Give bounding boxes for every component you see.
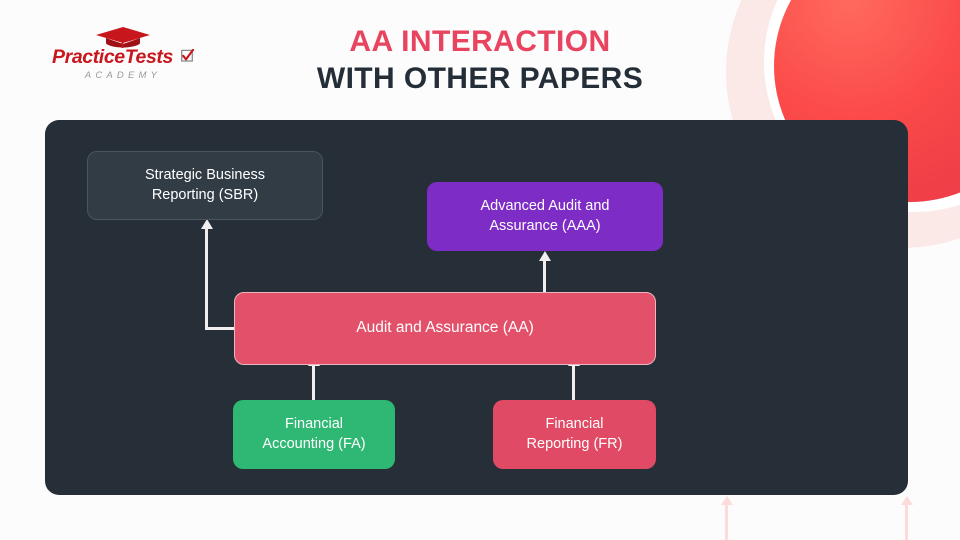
slide-canvas: PracticeTests ACADEMY AA INTERACTION WIT…: [0, 0, 960, 540]
node-strategic-business-reporting[interactable]: Strategic Business Reporting (SBR): [87, 151, 323, 220]
connector-line: [572, 365, 575, 401]
arrow-head-up-icon: [201, 219, 213, 229]
logo-subtitle: ACADEMY: [48, 70, 198, 81]
node-label: Audit and Assurance (AA): [356, 318, 534, 339]
node-advanced-audit-and-assurance[interactable]: Advanced Audit and Assurance (AAA): [427, 182, 663, 251]
decorative-arrow-up-icon-2: [905, 502, 908, 540]
node-label: Financial Accounting (FA): [262, 415, 365, 454]
node-financial-accounting[interactable]: Financial Accounting (FA): [233, 400, 395, 469]
connector-line: [312, 365, 315, 401]
node-audit-and-assurance[interactable]: Audit and Assurance (AA): [234, 292, 656, 365]
connector-line-horizontal: [205, 327, 236, 330]
node-label: Strategic Business Reporting (SBR): [145, 166, 265, 205]
logo-brand-label: PracticeTests: [52, 46, 173, 68]
diagram-panel: Strategic Business Reporting (SBR) Advan…: [45, 120, 908, 495]
node-financial-reporting[interactable]: Financial Reporting (FR): [493, 400, 656, 469]
logo-brand-text: PracticeTests: [48, 46, 198, 67]
node-label: Advanced Audit and Assurance (AAA): [481, 197, 610, 236]
page-title-line-2: WITH OTHER PAPERS: [220, 61, 740, 98]
decorative-arrow-up-icon-1: [725, 502, 728, 540]
brand-logo: PracticeTests ACADEMY: [48, 26, 198, 81]
page-title: AA INTERACTION WITH OTHER PAPERS: [220, 24, 740, 97]
graduation-cap-icon: [48, 26, 198, 48]
connector-line: [543, 260, 546, 293]
page-title-line-1: AA INTERACTION: [220, 24, 740, 61]
arrow-head-up-icon: [539, 251, 551, 261]
connector-line-vertical: [205, 228, 208, 329]
node-label: Financial Reporting (FR): [527, 415, 623, 454]
checkbox-check-icon: [181, 46, 194, 66]
